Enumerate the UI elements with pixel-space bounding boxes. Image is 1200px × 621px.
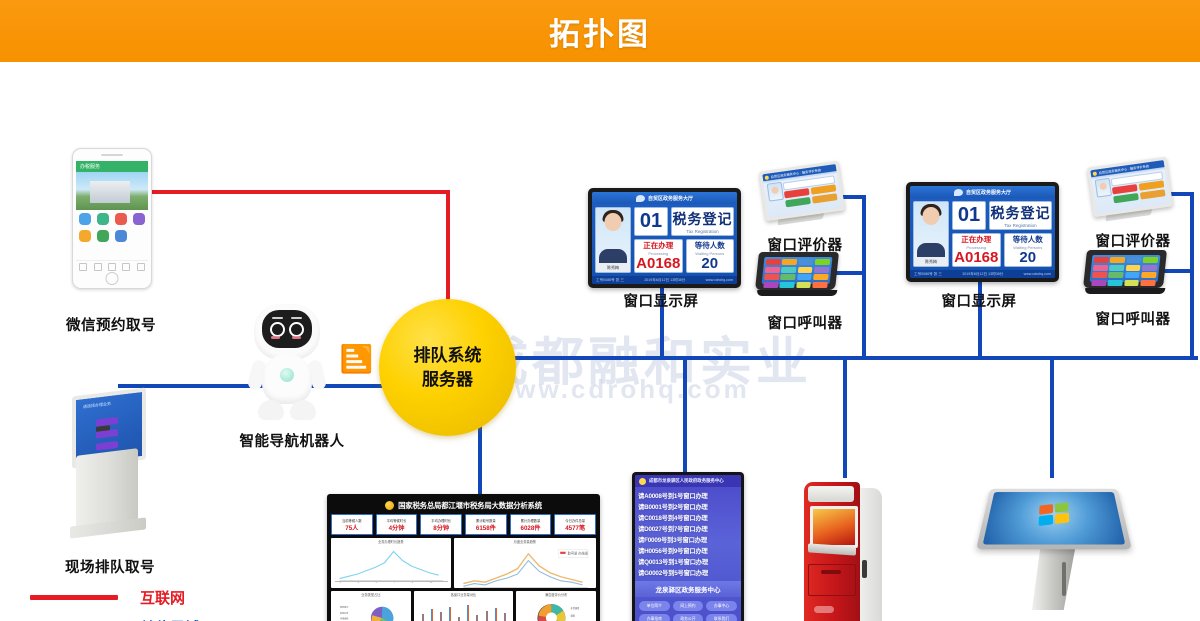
line-chart-2-svg: 取号量 办结量: [458, 547, 593, 588]
touch-inquiry-screen[interactable]: [976, 489, 1132, 550]
evaluator-left-staff-photo: [767, 182, 784, 202]
waiting-value-right: 20: [1019, 250, 1036, 266]
self-service-card-slot[interactable]: [862, 560, 867, 578]
caller-key-14[interactable]: [780, 282, 795, 288]
footer-left-text-l: 工号0086号 张 三: [596, 278, 624, 283]
kiosk-body: [76, 448, 138, 528]
caller-key-5[interactable]: [765, 267, 780, 273]
phone-earpiece: [101, 154, 123, 156]
queue-line: 请C0018号到4号窗口办理: [638, 513, 738, 522]
diagram-canvas: 成都融和实业 www.cdrohq.com: [0, 62, 1200, 621]
business-name-left: 税务登记 Tax Registration: [671, 207, 734, 236]
footer-center-text-r: 2019年6月12日 13时08分: [962, 272, 1003, 277]
phone-app-title: 办税服务: [80, 163, 100, 170]
comprehensive-button[interactable]: 联系我们: [706, 614, 737, 621]
app-icon-5[interactable]: [79, 230, 91, 242]
self-service-machine-device[interactable]: [800, 474, 892, 621]
dashboard-pie-chart-1: 业务类型占比 税务登记发票业务 申报纳税涉税咨询其他: [331, 591, 411, 621]
navigation-robot-device[interactable]: [248, 304, 326, 422]
comprehensive-button[interactable]: 办事指南: [639, 614, 670, 621]
caller-key-9[interactable]: [764, 274, 779, 280]
caller-key-12[interactable]: [813, 274, 828, 280]
evaluator-right-screen[interactable]: 自贸区政务服务中心 · 服务评价系统: [1087, 157, 1173, 218]
caller-key-r11[interactable]: [1125, 272, 1140, 278]
caller-key-r6[interactable]: [1109, 265, 1124, 271]
business-cn-left: 税务登记: [673, 209, 733, 229]
caller-key-1[interactable]: [766, 259, 781, 265]
window-display-right-columns: 01 税务登记 Tax Registration 正在办理 Processing…: [952, 201, 1052, 267]
label-window-display-right: 窗口显示屏: [908, 290, 1050, 311]
app-icon-3[interactable]: [115, 213, 127, 225]
robot-face-screen: [262, 310, 312, 348]
label-caller-right: 窗口呼叫器: [1073, 308, 1193, 329]
caller-left-keypad[interactable]: [762, 257, 833, 284]
comprehensive-button[interactable]: 网上预约: [673, 601, 704, 611]
tab-icon-message[interactable]: [122, 263, 130, 271]
window-display-left-header: 自贸区政务服务大厅: [592, 192, 737, 204]
window-caller-right-device[interactable]: [1085, 246, 1167, 294]
window-evaluator-left-device[interactable]: 自贸区政务服务中心 · 服务评价系统: [762, 166, 842, 222]
label-robot: 智能导航机器人: [222, 430, 362, 451]
caller-key-r4[interactable]: [1143, 257, 1158, 263]
bar-pair-6: [467, 605, 469, 621]
onsite-queue-kiosk-device[interactable]: 请选择办理业务: [66, 392, 154, 547]
bar-pair-1: [422, 614, 424, 621]
evaluator-right-ui: 自贸区政务服务中心 · 服务评价系统: [1090, 160, 1169, 214]
dashboard-title-bar: 国家税务总局都江堰市税务局大数据分析系统: [331, 498, 596, 512]
window-display-left-columns: 01 税务登记 Tax Registration 正在办理 Processing…: [634, 207, 734, 273]
caller-key-r9[interactable]: [1092, 272, 1107, 278]
footer-center-text-l: 2019年6月12日 13时08分: [644, 278, 685, 283]
wifi-icon: [61, 613, 87, 621]
robot-eye-left: [270, 322, 285, 337]
app-icon-4[interactable]: [133, 213, 145, 225]
bar-pair-7: [476, 615, 478, 621]
queue-line: 请H0056号到9号窗口办理: [638, 546, 738, 555]
svg-text:非常满意: 非常满意: [571, 606, 581, 610]
queue-line: 请F0009号到3号窗口办理: [638, 535, 738, 544]
self-service-top-panel: [808, 486, 854, 502]
dashboard-panel-row-2: 业务类型占比 税务登记发票业务 申报纳税涉税咨询其他 各窗口业务量对比: [331, 591, 596, 621]
caller-left-front-edge: [757, 290, 838, 296]
dashboard-bar-chart: 各窗口业务量对比 服务窗口: [414, 591, 514, 621]
page-title: 拓扑图: [549, 9, 651, 54]
bar-pair-9: [495, 608, 497, 621]
evaluator-button-basically-satisfied-right[interactable]: [1113, 193, 1139, 203]
bar-pair-4: [449, 607, 451, 621]
kpi-card: 今日办件总量 4577笔: [554, 514, 596, 535]
business-cn-right: 税务登记: [991, 203, 1051, 223]
caller-key-r15[interactable]: [1124, 280, 1139, 286]
legend-swatch-internet: [30, 595, 118, 600]
dashboard-title: 国家税务总局都江堰市税务局大数据分析系统: [398, 500, 542, 511]
caller-key-3[interactable]: [798, 259, 813, 265]
tab-icon-home[interactable]: [79, 263, 87, 271]
kpi-card: 累计取号数量 6158件: [465, 514, 507, 535]
bar-chart-bars: [419, 601, 510, 621]
caller-key-16[interactable]: [812, 282, 827, 288]
windows-logo-icon: [1038, 502, 1069, 526]
tab-icon-service[interactable]: [94, 263, 102, 271]
svg-text:发票业务: 发票业务: [340, 611, 348, 615]
server-label-line1: 排队系统: [414, 344, 482, 367]
evaluator-left-screen[interactable]: 自贸区政务服务中心 · 服务评价系统: [759, 161, 845, 222]
topology-diagram-page: 拓扑图 成都融和实业 www.cdrohq.com: [0, 0, 1200, 621]
caller-key-r2[interactable]: [1110, 257, 1125, 263]
svg-text:取号量 办结量: 取号量 办结量: [567, 551, 588, 556]
label-caller-left: 窗口呼叫器: [745, 312, 865, 333]
phone-tabbar[interactable]: [76, 260, 148, 272]
staff-photo-head-right: [923, 207, 940, 225]
app-icon-7[interactable]: [115, 230, 127, 242]
comprehensive-display-device[interactable]: 成都市龙泉驿区人民政府政务服务中心 请A0008号到1号窗口办理 请B0001号…: [632, 472, 744, 621]
staff-name-left: 陈秀梅: [596, 263, 630, 272]
dashboard-line-chart-1: 业务办理时长趋势 135 7911: [331, 538, 451, 588]
dashboard-panel-row-1: 业务办理时长趋势 135 7911 月度业务量趋势: [331, 538, 596, 588]
comprehensive-button-grid[interactable]: 单位简介 网上预约 办事中心 办事指南 政务公开 联系我们: [635, 597, 741, 621]
queue-line: 请D0027号到7号窗口办理: [638, 524, 738, 533]
comprehensive-queue-list: 请A0008号到1号窗口办理 请B0001号到2号窗口办理 请C0018号到4号…: [635, 487, 741, 581]
window-display-left-device[interactable]: 自贸区政务服务大厅 陈秀梅 01 税务登记 Ta: [588, 188, 741, 288]
label-onsite-kiosk: 现场排队取号: [45, 556, 175, 577]
self-service-access-door: [808, 564, 856, 596]
wechat-phone-device[interactable]: 办税服务: [72, 148, 152, 289]
caller-key-2[interactable]: [782, 259, 797, 265]
kpi-value: 75人: [345, 523, 358, 532]
bar-pair-10: [504, 613, 506, 621]
label-wechat: 微信预约取号: [51, 314, 171, 335]
server-label-line2: 服务器: [422, 368, 473, 391]
caller-key-r10[interactable]: [1108, 272, 1123, 278]
touch-inquiry-desktop: [983, 492, 1126, 544]
window-evaluator-right-device[interactable]: 自贸区政务服务中心 · 服务评价系统: [1090, 162, 1170, 218]
kpi-value: 6158件: [476, 523, 496, 532]
robot-foot-left: [258, 400, 284, 420]
bigdata-dashboard-device[interactable]: 国家税务总局都江堰市税务局大数据分析系统 当前等候人数 75人 平均等候时长 4…: [327, 494, 600, 621]
robot-eye-right: [289, 322, 304, 337]
processing-value-left: A0168: [636, 256, 680, 272]
caller-key-7[interactable]: [797, 267, 812, 273]
caller-right-shell: [1083, 250, 1167, 288]
queue-system-server[interactable]: 排队系统 服务器: [379, 299, 516, 436]
link-lan-comprehensive: [683, 356, 687, 474]
window-display-left-row-top: 01 税务登记 Tax Registration: [634, 207, 734, 236]
comprehensive-header-title: 成都市龙泉驿区人民政府政务服务中心: [649, 478, 724, 484]
window-display-right-footer: 工号0086号 张 三 2019年6月12日 13时08分 www.cdrohq…: [910, 270, 1055, 278]
caller-key-11[interactable]: [797, 274, 812, 280]
hall-title-right: 自贸区政务服务大厅: [966, 189, 1011, 196]
comprehensive-button[interactable]: 办事中心: [706, 601, 737, 611]
dashboard-logo-icon: [385, 501, 394, 510]
robot-head: [254, 304, 320, 360]
queue-line: 请G0002号到5号窗口办理: [638, 568, 738, 577]
processing-value-right: A0168: [954, 250, 998, 266]
waiting-label-cn-left: 等待人数: [695, 240, 725, 251]
evaluator-logo-icon: [764, 175, 769, 180]
legend: 互联网 单位局域网 无线网络: [30, 582, 260, 621]
kpi-card: 累计办理数量 6028件: [510, 514, 552, 535]
evaluator-button-basically-satisfied[interactable]: [785, 197, 811, 207]
kpi-card: 当前等候人数 75人: [331, 514, 373, 535]
kpi-value: 6028件: [521, 523, 541, 532]
window-display-left-screen: 自贸区政务服务大厅 陈秀梅 01 税务登记 Ta: [592, 192, 737, 284]
link-lan-selfservice: [843, 356, 847, 478]
bar-pair-3: [440, 612, 442, 621]
bar-pair-5: [458, 617, 460, 621]
window-display-left-body: 陈秀梅 01 税务登记 Tax Registration 正在办: [592, 204, 737, 276]
robot-brow-right: [291, 317, 302, 319]
staff-photo-torso: [599, 249, 627, 263]
touch-inquiry-vent: [1062, 562, 1066, 596]
svg-text:满意: 满意: [571, 614, 576, 618]
dashboard-line-chart-2: 月度业务量趋势 取号量 办结量: [454, 538, 596, 588]
comprehensive-display-header: 成都市龙泉驿区人民政府政务服务中心: [635, 475, 741, 487]
window-display-right-device[interactable]: 自贸区政务服务大厅 陈秀梅 01 税务登记 Ta: [906, 182, 1059, 282]
phone-app-titlebar: 办税服务: [76, 161, 148, 172]
phone-home-button[interactable]: [106, 272, 119, 285]
window-display-left-row-bottom: 正在办理 Processing A0168 等待人数 Waiting Perso…: [634, 239, 734, 273]
tab-icon-profile[interactable]: [137, 263, 145, 271]
caller-left-shell: [755, 252, 839, 290]
comprehensive-center-title: 龙泉驿区政务服务中心: [635, 581, 741, 597]
hall-logo-icon: [636, 195, 645, 202]
business-en-left: Tax Registration: [686, 229, 718, 234]
kiosk-screen-button-3[interactable]: [96, 441, 118, 451]
legend-row-internet: 互联网: [30, 582, 260, 612]
processing-label-cn-right: 正在办理: [961, 234, 991, 245]
caller-key-r12[interactable]: [1141, 272, 1156, 278]
waiting-label-cn-right: 等待人数: [1013, 234, 1043, 245]
robot-cheek-left: [271, 336, 280, 339]
wifi-signal-icon: 📶: [339, 342, 369, 376]
link-lan-touch-inquiry: [1050, 356, 1054, 478]
self-service-logo: [814, 606, 834, 613]
caller-key-r5[interactable]: [1093, 265, 1108, 271]
phone-app-grid: [79, 213, 145, 242]
waiting-value-left: 20: [701, 256, 718, 272]
kiosk-screen-title: 请选择办理业务: [83, 401, 111, 410]
robot-body: [262, 354, 312, 404]
watermark-url: www.cdrohq.com: [492, 374, 750, 405]
caller-key-15[interactable]: [796, 282, 811, 288]
gov-logo-icon: [639, 478, 646, 485]
pie-chart-2-svg: 非常满意满意 基本满意不满意: [516, 596, 596, 621]
processing-label-cn-left: 正在办理: [643, 240, 673, 251]
kpi-card: 平均等候时长 4分钟: [376, 514, 418, 535]
staff-photo-head: [605, 213, 622, 231]
waiting-cell-left: 等待人数 Waiting Persons 20: [686, 239, 735, 273]
caller-right-keypad[interactable]: [1090, 255, 1161, 282]
link-lan-window-display-right: [978, 274, 982, 358]
caller-key-13[interactable]: [763, 282, 778, 288]
hall-logo-icon-right: [954, 189, 963, 196]
caller-key-10[interactable]: [780, 274, 795, 280]
panel-title: 各窗口业务量对比: [414, 592, 514, 597]
hall-title-left: 自贸区政务服务大厅: [648, 195, 693, 202]
evaluator-logo-icon-right: [1092, 171, 1097, 176]
caller-key-8[interactable]: [814, 267, 829, 273]
processing-cell-right: 正在办理 Processing A0168: [952, 233, 1001, 267]
app-icon-2[interactable]: [97, 213, 109, 225]
legend-label-internet: 互联网: [140, 587, 185, 608]
queue-line: 请Q0013号到1号窗口办理: [638, 557, 738, 566]
evaluator-button-unsatisfied-right[interactable]: [1140, 189, 1166, 199]
window-display-right-body: 陈秀梅 01 税务登记 Tax Registration 正在办: [910, 198, 1055, 270]
touch-inquiry-machine-device[interactable]: [978, 474, 1134, 621]
app-icon-6[interactable]: [97, 230, 109, 242]
link-internet-horizontal: [150, 190, 450, 194]
staff-name-right: 陈秀梅: [914, 257, 948, 266]
robot-cheek-right: [292, 336, 301, 339]
dashboard-kpi-row: 当前等候人数 75人 平均等候时长 4分钟 平均办理时长 8分钟 累计取号数量 …: [331, 514, 596, 535]
app-icon-1[interactable]: [79, 213, 91, 225]
page-header: 拓扑图: [0, 0, 1200, 62]
caller-key-4[interactable]: [815, 259, 830, 265]
tab-icon-query[interactable]: [108, 263, 116, 271]
self-service-screen[interactable]: [810, 506, 858, 548]
comprehensive-button[interactable]: 政务公开: [673, 614, 704, 621]
touch-inquiry-column: [1032, 544, 1076, 610]
bar-pair-8: [486, 611, 488, 621]
window-display-right-row-bottom: 正在办理 Processing A0168 等待人数 Waiting Perso…: [952, 233, 1052, 267]
link-internet-vertical: [446, 190, 450, 308]
robot-chest-light: [280, 368, 294, 382]
kpi-value: 4分钟: [389, 523, 405, 532]
line-chart-1-svg: 135 7911: [335, 547, 448, 583]
evaluator-left-ui: 自贸区政务服务中心 · 服务评价系统: [762, 164, 841, 218]
business-name-right: 税务登记 Tax Registration: [989, 201, 1052, 230]
waiting-cell-right: 等待人数 Waiting Persons 20: [1004, 233, 1053, 267]
footer-right-text-r: www.cdrohq.com: [1024, 272, 1051, 276]
caller-key-r8[interactable]: [1142, 265, 1157, 271]
caller-key-r16[interactable]: [1140, 280, 1155, 286]
caller-key-r1[interactable]: [1094, 257, 1109, 263]
staff-photo-right: 陈秀梅: [913, 201, 949, 267]
phone-hero-image: [76, 172, 148, 210]
business-en-right: Tax Registration: [1004, 223, 1036, 228]
window-display-right-screen: 自贸区政务服务大厅 陈秀梅 01 税务登记 Ta: [910, 186, 1055, 278]
staff-photo-left: 陈秀梅: [595, 207, 631, 273]
line-chart-1-axis: [335, 581, 448, 582]
queue-line: 请A0008号到1号窗口办理: [638, 491, 738, 500]
caller-key-r3[interactable]: [1126, 257, 1141, 263]
queue-line: 请B0001号到2号窗口办理: [638, 502, 738, 511]
pie-chart-1-svg: 税务登记发票业务 申报纳税涉税咨询其他: [331, 597, 411, 621]
staff-photo-torso-right: [917, 243, 945, 257]
svg-text:申报纳税: 申报纳税: [340, 616, 348, 620]
link-lan-evaluator-left-v: [862, 195, 866, 358]
window-display-right-row-top: 01 税务登记 Tax Registration: [952, 201, 1052, 230]
evaluator-right-staff-photo: [1095, 178, 1112, 198]
footer-right-text-l: www.cdrohq.com: [706, 278, 733, 282]
kpi-value: 8分钟: [433, 523, 449, 532]
counter-number-left: 01: [634, 207, 668, 236]
link-lan-evaluator-right-v: [1190, 192, 1194, 358]
caller-right-front-edge: [1085, 288, 1166, 294]
footer-left-text-r: 工号0086号 张 三: [914, 272, 942, 277]
link-lan-main-bus: [478, 356, 1198, 360]
label-window-display-left: 窗口显示屏: [590, 290, 732, 311]
bar-pair-2: [431, 609, 433, 621]
robot-brow-left: [272, 317, 283, 319]
caller-key-r7[interactable]: [1125, 265, 1140, 271]
panel-title: 月度业务量趋势: [454, 539, 596, 544]
kpi-card: 平均办理时长 8分钟: [420, 514, 462, 535]
kpi-value: 4577笔: [565, 523, 585, 532]
counter-number-right: 01: [952, 201, 986, 230]
comprehensive-button[interactable]: 单位简介: [639, 601, 670, 611]
caller-key-r13[interactable]: [1091, 280, 1106, 286]
dashboard-pie-chart-2: 满意度评价分布 非常满意满意: [516, 591, 596, 621]
evaluator-button-unsatisfied[interactable]: [812, 193, 838, 203]
processing-cell-left: 正在办理 Processing A0168: [634, 239, 683, 273]
legend-label-lan: 单位局域网: [140, 617, 215, 621]
svg-text:税务登记: 税务登记: [340, 605, 348, 609]
panel-title: 业务办理时长趋势: [331, 539, 451, 544]
robot-foot-right: [290, 400, 316, 420]
caller-key-r14[interactable]: [1108, 280, 1123, 286]
window-display-left-footer: 工号0086号 张 三 2019年6月12日 13时08分 www.cdrohq…: [592, 276, 737, 284]
caller-key-6[interactable]: [781, 267, 796, 273]
window-caller-left-device[interactable]: [757, 248, 839, 296]
window-display-right-header: 自贸区政务服务大厅: [910, 186, 1055, 198]
comprehensive-display-screen: 成都市龙泉驿区人民政府政务服务中心 请A0008号到1号窗口办理 请B0001号…: [635, 475, 741, 621]
